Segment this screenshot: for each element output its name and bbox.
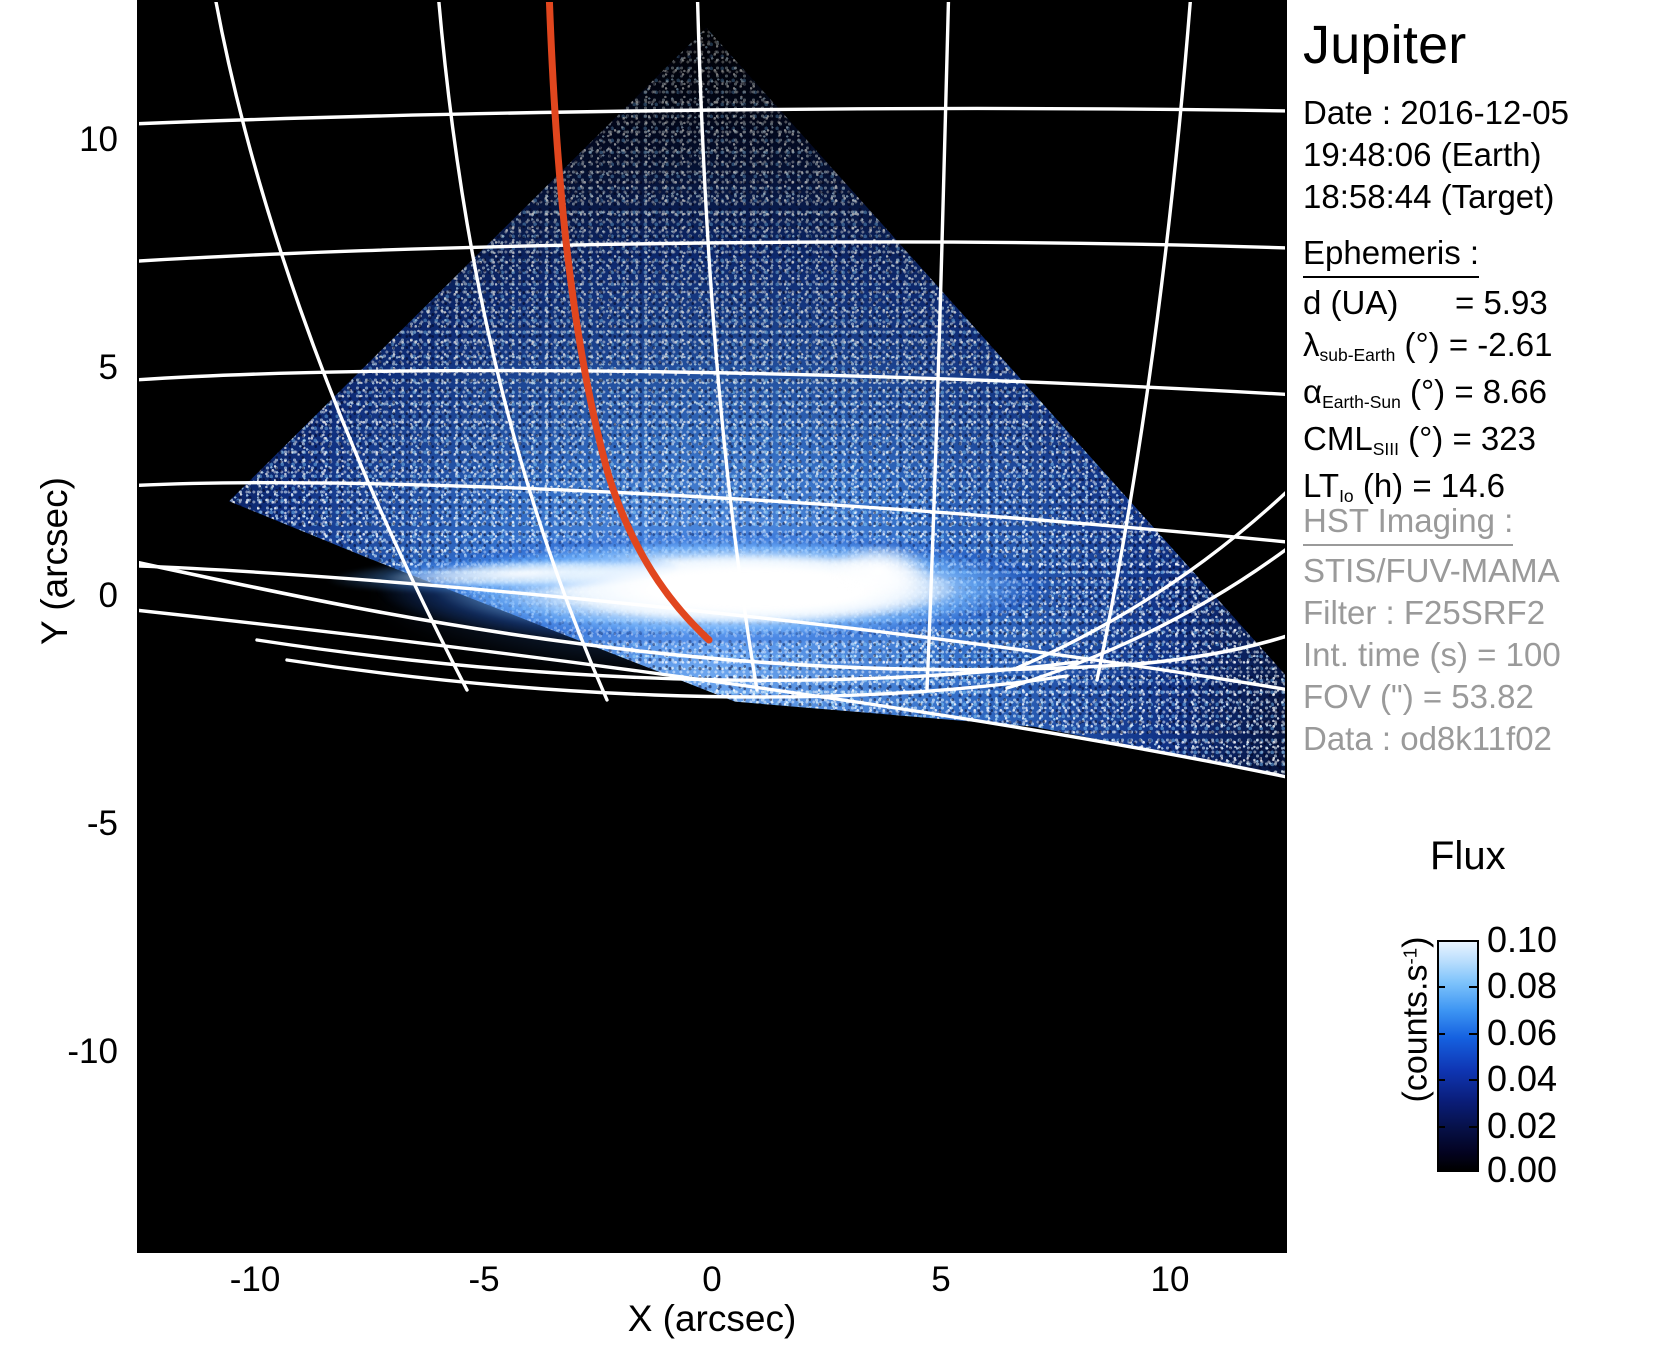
- ephemeris-row-sub-earth-latitude: λsub-Earth (°) = -2.61: [1303, 324, 1553, 371]
- eph-value-lt: = 14.6: [1412, 467, 1505, 504]
- date-line: Date : 2016-12-05: [1303, 92, 1569, 134]
- cbar-tick-r4: [1469, 1126, 1477, 1128]
- eph-key-lambda: λ: [1303, 326, 1320, 363]
- ytick-mark-m5: [137, 824, 153, 827]
- flux-colorbar: [1437, 940, 1479, 1172]
- colorbar-unit-text: (counts.s: [1397, 965, 1435, 1103]
- target-title: Jupiter: [1303, 14, 1466, 76]
- ytick-label-4: -10: [10, 1034, 118, 1069]
- eph-key-cml: CML: [1303, 420, 1373, 457]
- target-time-line: 18:58:44 (Target): [1303, 176, 1569, 218]
- ytick-mark-5: [137, 368, 153, 371]
- eph-sub-alpha: Earth-Sun: [1322, 392, 1401, 412]
- ephemeris-row-phase-angle: αEarth-Sun (°) = 8.66: [1303, 371, 1553, 418]
- xtick-label-3: 5: [891, 1262, 991, 1297]
- ytick-mark-10: [137, 140, 153, 143]
- xtick-mark-m10: [255, 1237, 258, 1253]
- cbar-tick-r3: [1469, 1079, 1477, 1081]
- ytick-mark-0: [137, 596, 153, 599]
- eph-unit-lt: (h): [1363, 467, 1403, 504]
- eph-sub-cml: SIII: [1373, 439, 1399, 459]
- colorbar-title: Flux: [1430, 834, 1506, 879]
- hst-dataset-id: Data : od8k11f02: [1303, 718, 1561, 760]
- xtick-mark-m5: [484, 1237, 487, 1253]
- hst-instrument: STIS/FUV-MAMA: [1303, 550, 1561, 592]
- cbar-tick-r1: [1469, 986, 1477, 988]
- eph-unit-alpha: (°): [1410, 373, 1445, 410]
- y-axis-title: Y (arcsec): [34, 411, 76, 711]
- eph-value-cml: = 323: [1452, 420, 1536, 457]
- hst-filter: Filter : F25SRF2: [1303, 592, 1561, 634]
- xtick-label-4: 10: [1120, 1262, 1220, 1297]
- ytick-mark-m10: [137, 1052, 153, 1055]
- eph-value-lambda: = -2.61: [1449, 326, 1553, 363]
- cbar-tick-r5: [1469, 1170, 1477, 1172]
- x-axis-title: X (arcsec): [437, 1298, 987, 1340]
- cbar-tick-0: [1437, 940, 1445, 942]
- cbar-tick-3: [1437, 1079, 1445, 1081]
- eph-sub-lambda: sub-Earth: [1320, 345, 1396, 365]
- cbar-label-4: 0.02: [1487, 1108, 1557, 1144]
- ephemeris-block: Ephemeris : d (UA)= 5.93 λsub-Earth (°) …: [1303, 232, 1553, 512]
- xtick-label-2: 0: [662, 1262, 762, 1297]
- eph-key-d: d (UA): [1303, 282, 1455, 324]
- ytick-label-0: 10: [10, 122, 118, 157]
- cbar-tick-4: [1437, 1126, 1445, 1128]
- earth-time-line: 19:48:06 (Earth): [1303, 134, 1569, 176]
- ytick-label-3: -5: [10, 806, 118, 841]
- ephemeris-heading: Ephemeris :: [1303, 232, 1479, 278]
- hst-imaging-block: HST Imaging : STIS/FUV-MAMA Filter : F25…: [1303, 500, 1561, 760]
- xtick-label-1: -5: [434, 1262, 534, 1297]
- cbar-tick-1: [1437, 986, 1445, 988]
- hst-int-time: Int. time (s) = 100: [1303, 634, 1561, 676]
- eph-key-alpha: α: [1303, 373, 1322, 410]
- colorbar-unit-close: ): [1397, 937, 1435, 948]
- hst-imaging-heading: HST Imaging :: [1303, 500, 1513, 546]
- io-footprint-track: [137, 0, 1287, 1253]
- cbar-tick-2: [1437, 1033, 1445, 1035]
- hst-fov: FOV (") = 53.82: [1303, 676, 1561, 718]
- colorbar-unit-exponent: -1: [1399, 948, 1420, 965]
- ephemeris-row-cml: CMLSIII (°) = 323: [1303, 418, 1553, 465]
- cbar-tick-r0: [1469, 940, 1477, 942]
- cbar-label-5: 0.00: [1487, 1152, 1557, 1188]
- cbar-tick-r2: [1469, 1033, 1477, 1035]
- cbar-label-0: 0.10: [1487, 922, 1557, 958]
- cbar-label-3: 0.04: [1487, 1061, 1557, 1097]
- xtick-label-0: -10: [205, 1262, 305, 1297]
- ytick-label-1: 5: [10, 350, 118, 385]
- cbar-label-1: 0.08: [1487, 968, 1557, 1004]
- eph-key-lt: LT: [1303, 467, 1339, 504]
- eph-unit-lambda: (°): [1404, 326, 1439, 363]
- colorbar-unit-label: (counts.s-1): [1397, 890, 1436, 1150]
- observation-date-block: Date : 2016-12-05 19:48:06 (Earth) 18:58…: [1303, 92, 1569, 218]
- ephemeris-row-distance: d (UA)= 5.93: [1303, 282, 1553, 324]
- plot-area: [137, 0, 1287, 1253]
- cbar-tick-5: [1437, 1170, 1445, 1172]
- eph-value-alpha: = 8.66: [1454, 373, 1547, 410]
- eph-value-d: = 5.93: [1455, 284, 1548, 321]
- xtick-mark-10: [1170, 1237, 1173, 1253]
- eph-unit-cml: (°): [1408, 420, 1443, 457]
- xtick-mark-5: [941, 1237, 944, 1253]
- cbar-label-2: 0.06: [1487, 1015, 1557, 1051]
- xtick-mark-0: [712, 1237, 715, 1253]
